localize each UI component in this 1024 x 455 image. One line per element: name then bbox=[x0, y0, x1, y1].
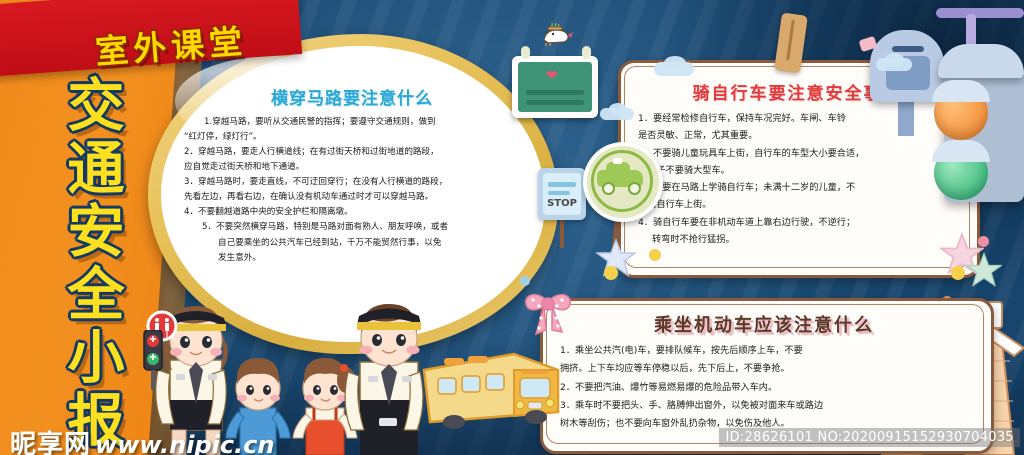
header-banner-label: 室外课堂 bbox=[93, 14, 248, 73]
decor-dot-3 bbox=[951, 266, 965, 280]
crossing-line-5: 3．穿越马路时，要走直线，不可迂回穿行；在没有人行横道的路段， bbox=[184, 176, 520, 189]
cloud-icon-3-top bbox=[885, 53, 904, 66]
bicycle-line-8: 转弯时不抢行猛拐。 bbox=[638, 233, 956, 247]
vertical-title-char-5: 小 bbox=[68, 330, 125, 387]
car-sign-taxi-light bbox=[613, 158, 622, 164]
bird-icon bbox=[540, 22, 574, 46]
mailbox-post bbox=[898, 96, 914, 136]
watermark-id: ID:28626101 NO:20200915152930704035 bbox=[719, 428, 1020, 447]
watermark-left: 昵享网 www.nipic.cn bbox=[10, 424, 275, 455]
traffic-light-crossbar bbox=[936, 8, 1024, 18]
decor-dot-2 bbox=[649, 249, 661, 261]
cloud-icon-1-top bbox=[664, 56, 686, 70]
crossing-line-6: 先看左边，再看右边，在确认没有机动车通过时才可以穿越马路。 bbox=[184, 191, 520, 204]
vehicle-line-3: 2．不要把汽油、爆竹等易燃易爆的危险品带入车内。 bbox=[560, 381, 968, 395]
heart-icon: ❤ bbox=[546, 68, 558, 84]
board-knob-left bbox=[521, 46, 530, 59]
bicycle-line-5: 3．不要在马路上学骑自行车；未满十二岁的儿童，不 bbox=[638, 181, 956, 195]
vehicle-section: 乘坐机动车应该注意什么 1．乘坐公共汽(电)车，要排队候车，按先后顺序上车，不要… bbox=[552, 306, 976, 440]
traffic-safety-poster: 交 通 安 全 小 报 室外课堂 ❤ STOP bbox=[0, 0, 1024, 455]
crossing-section: 横穿马路要注意什么 1.穿越马路，要听从交通民警的指挥；要遵守交通规则，做到 “… bbox=[172, 84, 532, 334]
decor-dot-5 bbox=[520, 276, 530, 286]
mailbox-slot bbox=[892, 46, 924, 52]
bicycle-line-6: 要骑自行车上街。 bbox=[638, 198, 956, 212]
traffic-light-hood bbox=[938, 44, 1024, 78]
school-bus-icon bbox=[418, 344, 564, 430]
crossing-line-9: 自己要乘坐的公共汽车已经到站，千万不能贸然行事，以免 bbox=[184, 237, 520, 250]
star-icon-3 bbox=[966, 252, 1002, 288]
car-sign-wheel-left bbox=[602, 182, 615, 195]
vehicle-line-4: 3．乘车时不要把头、手、胳膊伸出窗外，以免被对面来车或路边 bbox=[560, 399, 968, 413]
bicycle-line-7: 4．骑自行车要在非机动车道上靠右边行驶，不逆行； bbox=[638, 216, 956, 230]
decor-dot-4 bbox=[978, 236, 989, 247]
crossing-section-body: 1.穿越马路，要听从交通民警的指挥；要遵守交通规则，做到 “红灯停，绿灯行”。 … bbox=[184, 116, 520, 265]
crossing-section-title: 横穿马路要注意什么 bbox=[184, 84, 520, 109]
crossing-line-3: 2．穿越马路，要走人行横道线；在有过街天桥和过街地道的路段， bbox=[184, 146, 520, 159]
crossing-line-2: “红灯停，绿灯行”。 bbox=[184, 131, 520, 144]
vertical-title-char-4: 全 bbox=[68, 267, 125, 324]
board-knob-right bbox=[582, 46, 591, 59]
vertical-title-char-3: 安 bbox=[68, 204, 125, 261]
vehicle-line-2: 拥挤。上下车均应等车停稳以后，先下后上，不要争抢。 bbox=[560, 362, 968, 376]
cloud-icon-2-top bbox=[609, 103, 627, 115]
crossing-line-1: 1.穿越马路，要听从交通民警的指挥；要遵守交通规则，做到 bbox=[184, 116, 520, 129]
bicycle-line-4: 小孩子不要骑大型车。 bbox=[638, 164, 956, 178]
ribbon-bow-icon bbox=[522, 288, 574, 336]
board-line-2 bbox=[526, 100, 584, 105]
decor-dot-1 bbox=[604, 266, 618, 280]
small-traffic-light-icon bbox=[140, 330, 166, 390]
crossing-line-7: 4．不要翻越道路中央的安全护栏和隔离墩。 bbox=[184, 206, 520, 219]
vehicle-section-title: 乘坐机动车应该注意什么 bbox=[560, 311, 968, 337]
crossing-line-4: 应自觉走过街天桥和地下通道。 bbox=[184, 161, 520, 174]
bicycle-line-3: 2．不要骑儿童玩具车上街，自行车的车型大小要合适， bbox=[638, 147, 956, 161]
vehicle-line-1: 1．乘坐公共汽(电)车，要排队候车，按先后顺序上车，不要 bbox=[560, 344, 968, 358]
stop-sign-label: STOP bbox=[543, 198, 581, 209]
stop-sign-bar-1 bbox=[548, 182, 576, 187]
watermark-site-url: www.nipic.cn bbox=[95, 431, 274, 455]
crossing-line-10: 发生意外。 bbox=[184, 252, 520, 265]
crossing-line-8: 5．不要突然横穿马路，特别是马路对面有熟人、朋友呼唤，或者 bbox=[184, 221, 520, 234]
car-sign-wheel-right bbox=[628, 182, 641, 195]
watermark-site-cn: 昵享网 bbox=[10, 424, 91, 455]
stop-sign-bar-2 bbox=[548, 191, 570, 195]
board-line-1 bbox=[526, 90, 584, 95]
vertical-title-char-2: 通 bbox=[68, 141, 125, 198]
